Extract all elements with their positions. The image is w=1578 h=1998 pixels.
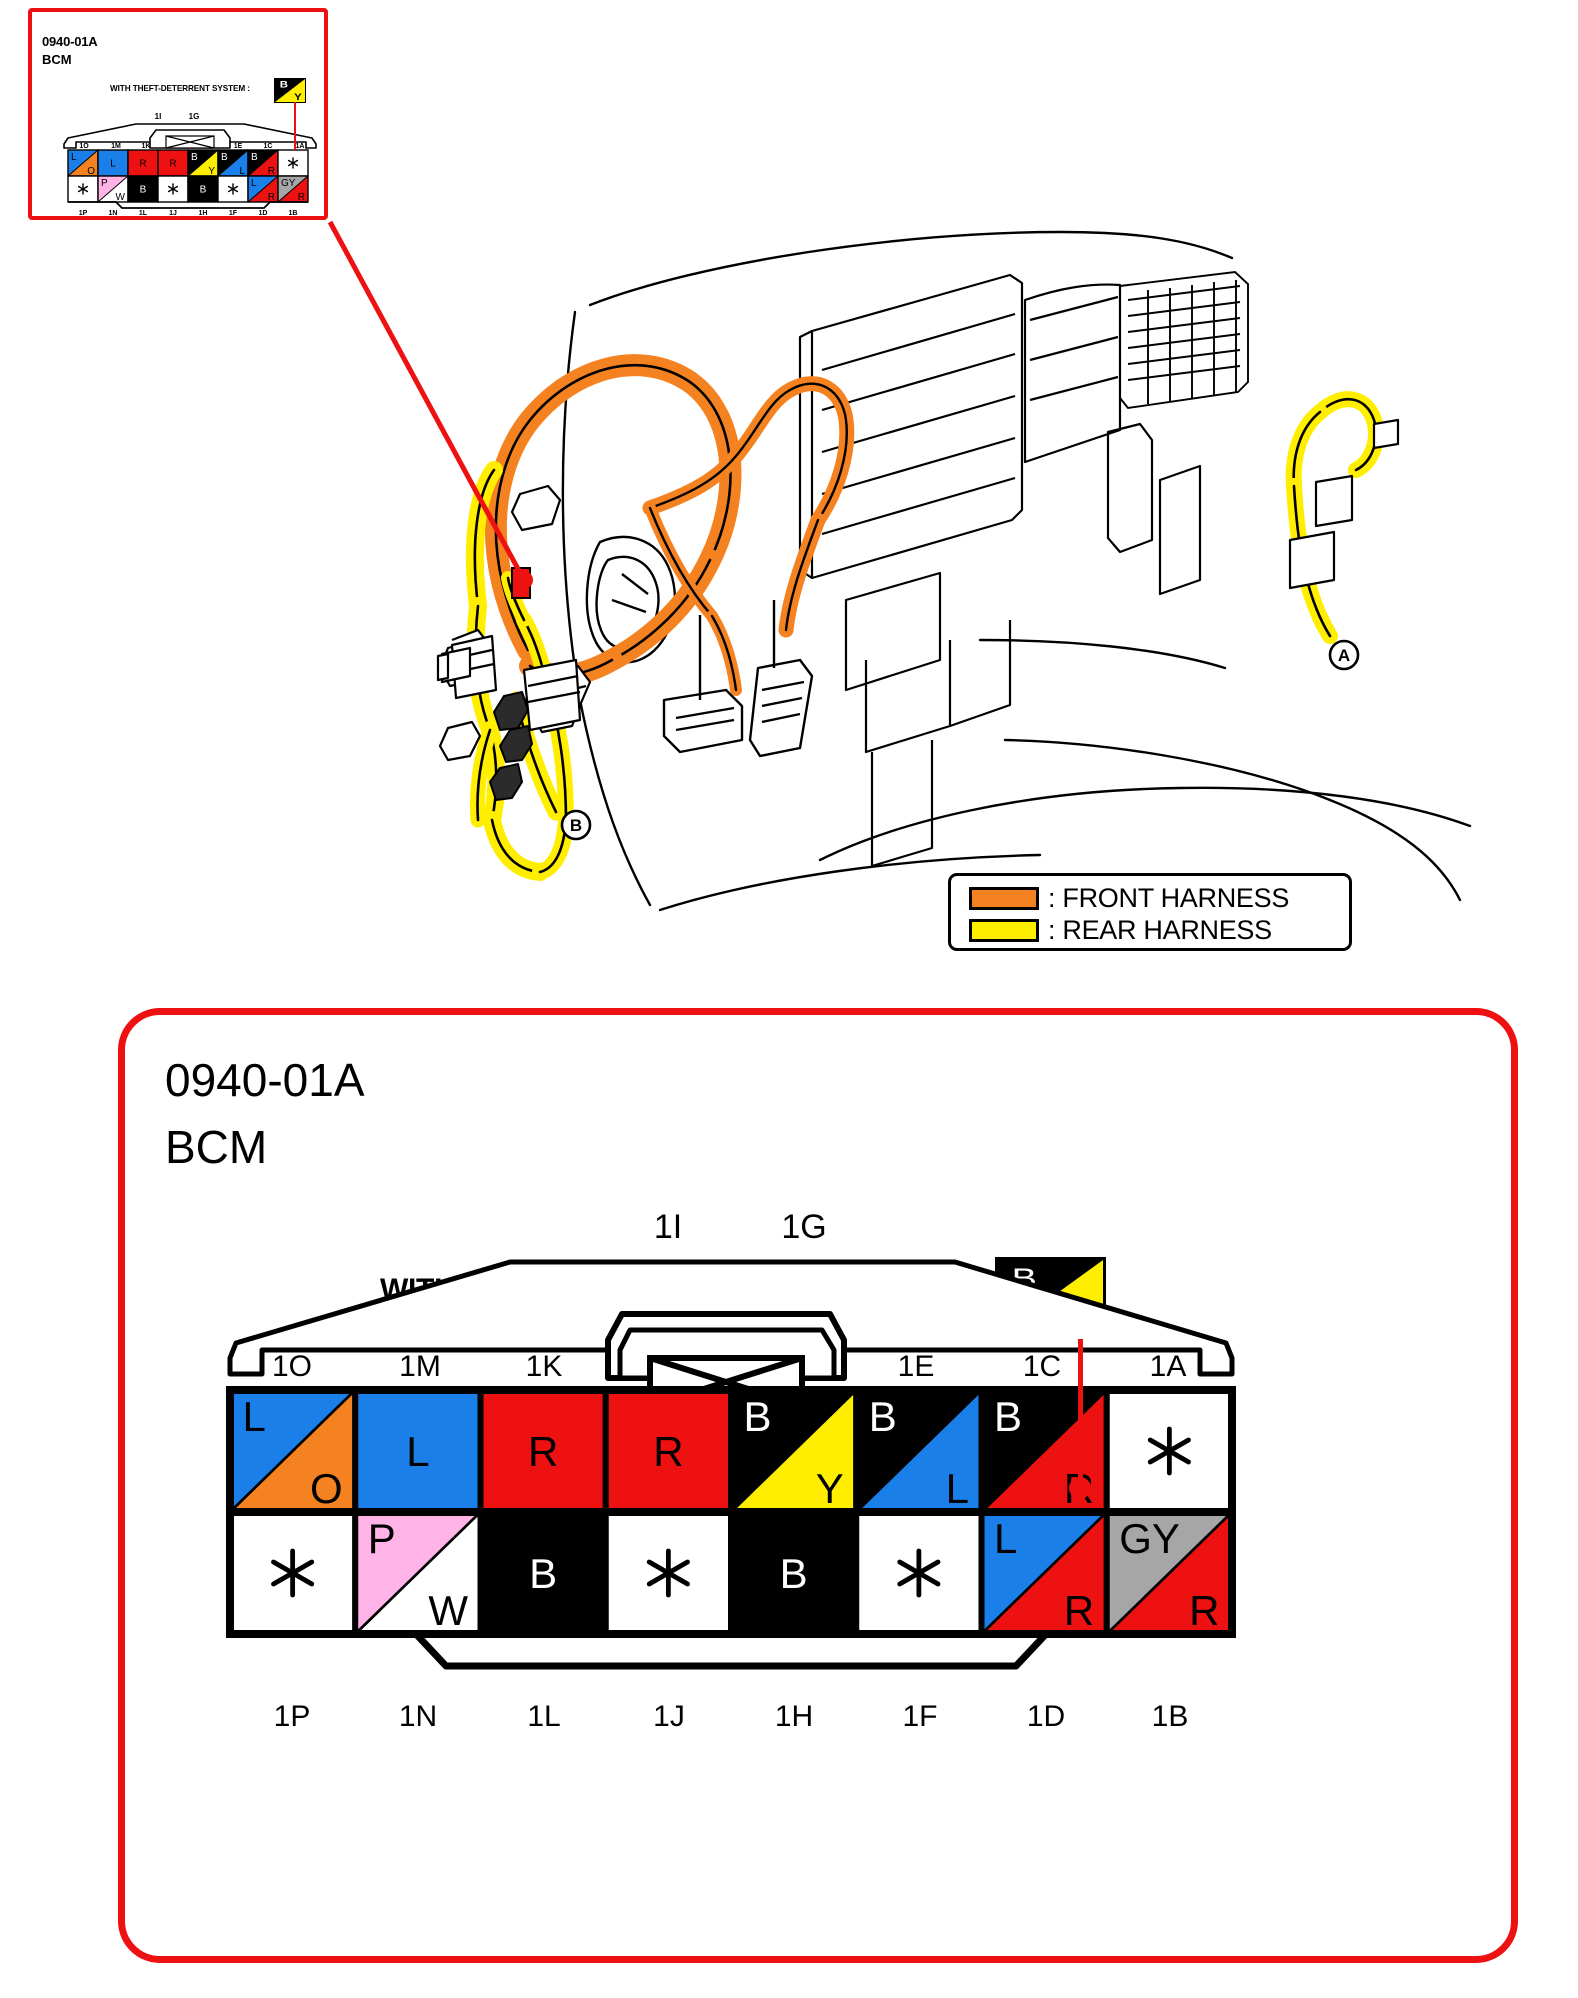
- pin-label-1M: 1M: [399, 1350, 441, 1383]
- pin-cell-1J: [158, 176, 188, 202]
- svg-text:1M: 1M: [111, 143, 121, 150]
- pin-cell-1N: PW: [355, 1512, 480, 1634]
- pin-cell-1D: LR: [982, 1512, 1107, 1634]
- svg-text:1K: 1K: [142, 143, 151, 150]
- svg-text:B: B: [200, 185, 207, 196]
- svg-text:R: R: [268, 166, 275, 177]
- harness-legend: : FRONT HARNESS : REAR HARNESS: [948, 873, 1352, 951]
- svg-text:L: L: [110, 159, 116, 170]
- pin-cell-1G: BY: [731, 1390, 856, 1512]
- svg-text:1H: 1H: [199, 210, 208, 216]
- svg-text:R: R: [1064, 1587, 1094, 1634]
- svg-text:B: B: [744, 1393, 772, 1440]
- pin-cell-1A: [278, 150, 308, 176]
- inset-swatch-upper: B: [280, 81, 288, 90]
- pin-label-1L: 1L: [527, 1700, 560, 1733]
- top-label-1G: 1G: [781, 1208, 826, 1246]
- theft-swatch-leader-dot: [1069, 1477, 1091, 1499]
- pin-cell-1B: GYR: [278, 176, 308, 203]
- pin-label-1C: 1C: [1023, 1350, 1061, 1383]
- pin-label-1K: 1K: [526, 1350, 563, 1383]
- svg-text:L: L: [994, 1515, 1017, 1562]
- legend-item-rear-harness: : REAR HARNESS: [969, 914, 1349, 946]
- inset-swatch-lower: Y: [294, 93, 302, 102]
- pin-label-1P: 1P: [274, 1700, 311, 1733]
- svg-text:B: B: [221, 152, 228, 163]
- svg-text:P: P: [101, 178, 108, 189]
- svg-text:A: A: [1338, 646, 1350, 665]
- svg-text:1N: 1N: [109, 210, 118, 216]
- rear-harness-color-swatch: [969, 919, 1039, 942]
- pin-cell-1P: [68, 176, 98, 202]
- svg-text:P: P: [368, 1515, 396, 1562]
- pin-label-1F: 1F: [902, 1700, 937, 1733]
- svg-text:1E: 1E: [234, 143, 243, 150]
- svg-text:1O: 1O: [79, 143, 89, 150]
- front-harness-color-swatch: [969, 887, 1039, 910]
- pin-cell-1L: B: [481, 1512, 606, 1634]
- pin-cell-1J: R: [606, 1390, 731, 1512]
- svg-text:W: W: [116, 192, 126, 203]
- svg-text:B: B: [780, 1550, 808, 1597]
- inset-code: 0940-01A: [42, 34, 98, 49]
- svg-text:R: R: [528, 1428, 558, 1475]
- svg-text:1G: 1G: [189, 112, 200, 121]
- svg-text:L: L: [71, 152, 77, 163]
- svg-text:1F: 1F: [229, 210, 238, 216]
- diagram-page: A B 0940-01A BCM WITH THEFT-DETERRENT SY…: [0, 0, 1578, 1998]
- rear-harness-label: : REAR HARNESS: [1048, 915, 1272, 946]
- pin-cell-1O: LO: [68, 150, 98, 177]
- pin-label-1E: 1E: [898, 1350, 935, 1383]
- pin-label-1B: 1B: [1152, 1700, 1189, 1733]
- pin-cell-1L: B: [128, 176, 158, 202]
- inset-connector: 1I 1G 1O 1M 1K 1E 1C 1A LOLRRBYBLBRPWBBL…: [54, 108, 326, 216]
- svg-text:R: R: [653, 1428, 683, 1475]
- svg-text:GY: GY: [1119, 1515, 1180, 1562]
- svg-text:R: R: [169, 159, 176, 170]
- pin-cell-1M: L: [355, 1390, 480, 1512]
- svg-text:1J: 1J: [169, 210, 177, 216]
- pin-cell-1M: L: [98, 150, 128, 176]
- pin-cell-1H: B: [188, 176, 218, 202]
- svg-text:1P: 1P: [79, 210, 88, 216]
- theft-swatch-leader-line: [1078, 1339, 1083, 1489]
- pin-cell-1F: [856, 1512, 981, 1634]
- pin-label-1A: 1A: [1150, 1350, 1187, 1383]
- svg-text:B: B: [994, 1393, 1022, 1440]
- pin-cell-1G: BY: [188, 150, 218, 177]
- pin-cell-1B: GYR: [1107, 1512, 1232, 1634]
- pin-cell-1E: BL: [856, 1390, 981, 1512]
- pin-cell-1N: PW: [98, 176, 128, 203]
- pin-label-1N: 1N: [399, 1700, 437, 1733]
- pin-cell-1E: BL: [218, 150, 248, 177]
- svg-text:L: L: [243, 1393, 266, 1440]
- svg-text:1C: 1C: [264, 143, 273, 150]
- top-label-1I: 1I: [654, 1208, 682, 1246]
- legend-item-front-harness: : FRONT HARNESS: [969, 882, 1349, 914]
- svg-text:B: B: [191, 152, 198, 163]
- svg-text:1D: 1D: [259, 210, 268, 216]
- svg-text:B: B: [869, 1393, 897, 1440]
- svg-text:B: B: [140, 185, 147, 196]
- pin-cell-1A: [1107, 1390, 1232, 1512]
- pin-cell-1O: LO: [230, 1390, 355, 1512]
- svg-text:1L: 1L: [139, 210, 148, 216]
- inset-name: BCM: [42, 52, 72, 67]
- svg-text:Y: Y: [208, 166, 215, 177]
- pin-cell-1P: [230, 1512, 355, 1634]
- svg-text:B: B: [570, 816, 582, 835]
- pin-label-1J: 1J: [653, 1700, 685, 1733]
- bcm-connector-pinout: 1I 1G 1O 1M 1K 1E 1C 1A LOLRRBYBLBRPWBBL…: [210, 1110, 1440, 1910]
- pin-cell-1D: LR: [248, 176, 278, 203]
- svg-text:O: O: [310, 1465, 343, 1512]
- pin-cell-1C: BR: [248, 150, 278, 177]
- svg-text:1B: 1B: [289, 210, 298, 216]
- svg-text:1I: 1I: [155, 112, 162, 121]
- pin-cell-1H: B: [731, 1512, 856, 1634]
- inset-theft-label: WITH THEFT-DETERRENT SYSTEM :: [110, 84, 250, 93]
- svg-text:W: W: [428, 1587, 468, 1634]
- pin-label-1H: 1H: [775, 1700, 813, 1733]
- svg-text:L: L: [239, 166, 245, 177]
- front-harness-label: : FRONT HARNESS: [1048, 883, 1289, 914]
- svg-text:O: O: [87, 166, 95, 177]
- svg-text:GY: GY: [281, 178, 296, 189]
- page-title: 0940-01A: [165, 1053, 365, 1107]
- svg-text:B: B: [251, 152, 258, 163]
- pin-cell-1K: R: [481, 1390, 606, 1512]
- pin-label-1O: 1O: [272, 1350, 312, 1383]
- svg-text:B: B: [529, 1550, 557, 1597]
- svg-text:L: L: [251, 178, 257, 189]
- svg-text:L: L: [946, 1465, 969, 1512]
- pin-cell-1J: [606, 1512, 731, 1634]
- inset-swatch-leader: [294, 102, 296, 150]
- svg-text:Y: Y: [816, 1465, 844, 1512]
- svg-text:1A: 1A: [296, 143, 305, 150]
- bcm-detail-panel: 0940-01A BCM WITH THEFT-DETERRENT SYSTEM…: [118, 1008, 1518, 1963]
- svg-text:R: R: [139, 159, 146, 170]
- pin-cell-1F: [218, 176, 248, 202]
- pin-cell-1K: R: [128, 150, 158, 176]
- pin-cell-1J: R: [158, 150, 188, 176]
- pin-label-1D: 1D: [1027, 1700, 1065, 1733]
- svg-text:R: R: [1189, 1587, 1219, 1634]
- inset-thumbnail-panel: 0940-01A BCM WITH THEFT-DETERRENT SYSTEM…: [28, 8, 328, 220]
- inset-theft-swatch: B Y: [274, 78, 306, 103]
- svg-text:L: L: [406, 1428, 429, 1475]
